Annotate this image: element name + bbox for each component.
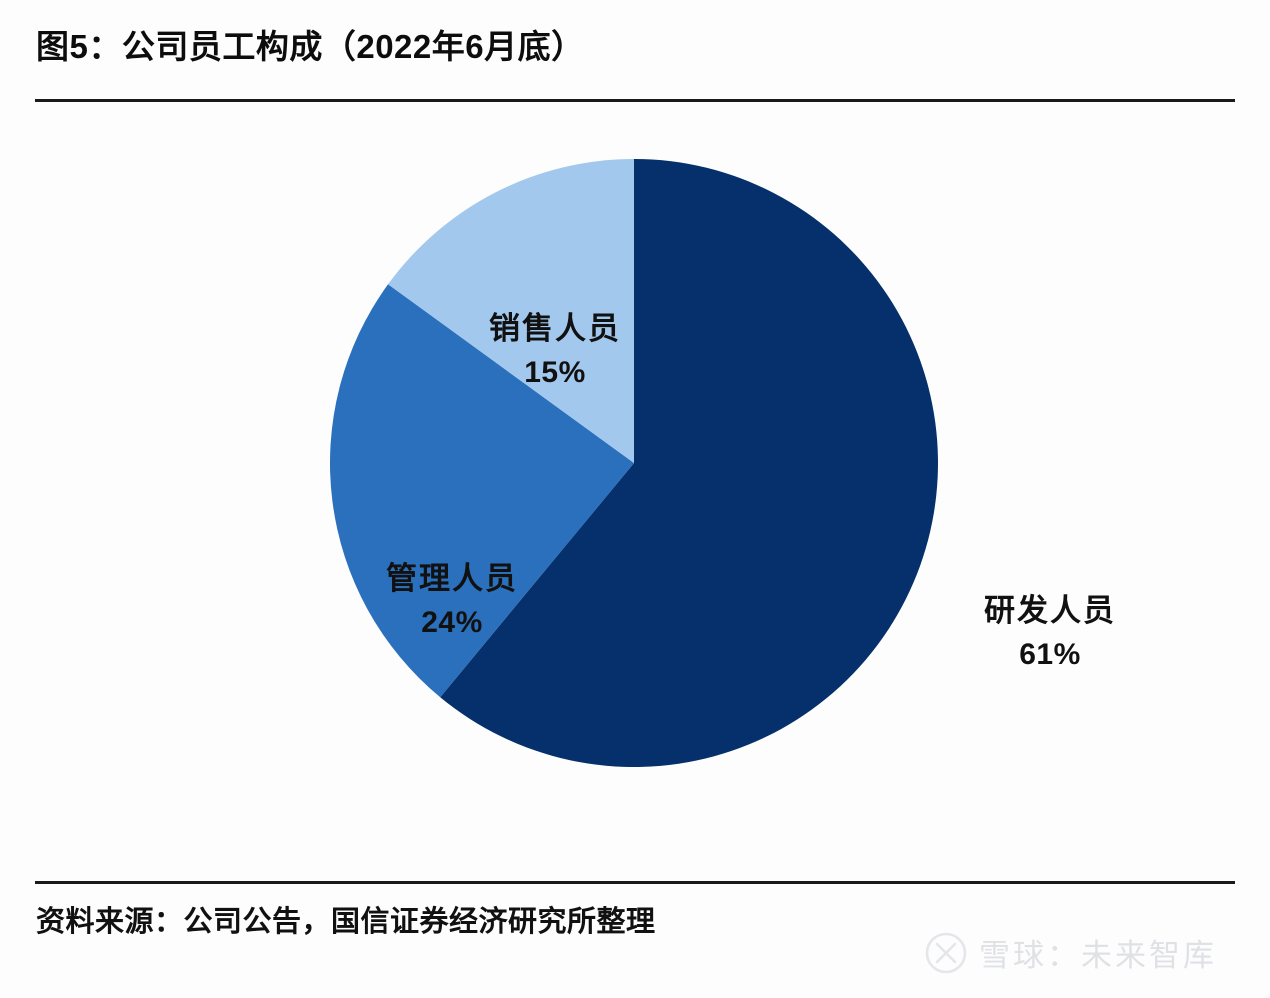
pie-label-rnd-name: 研发人员 [950,591,1150,631]
watermark-text: 雪球：未来智库 [979,930,1217,975]
footer-divider [35,881,1235,884]
page-title: 图5：公司员工构成（2022年6月底） [36,24,1136,70]
pie-label-rnd-value: 61% [950,636,1150,674]
pie-graphic [330,159,938,767]
pie-label-rnd: 研发人员 61% [950,591,1150,674]
pie-svg [330,159,938,767]
watermark: 雪球：未来智库 [925,930,1217,975]
header-divider [35,99,1235,102]
figure-page: 图5：公司员工构成（2022年6月底） 销售人员 15% 管理人员 24% 研发… [0,0,1270,998]
snowball-x-logo-icon [925,932,967,974]
pie-chart: 销售人员 15% 管理人员 24% 研发人员 61% [0,104,1270,879]
source-note: 资料来源：公司公告，国信证券经济研究所整理 [36,898,656,940]
